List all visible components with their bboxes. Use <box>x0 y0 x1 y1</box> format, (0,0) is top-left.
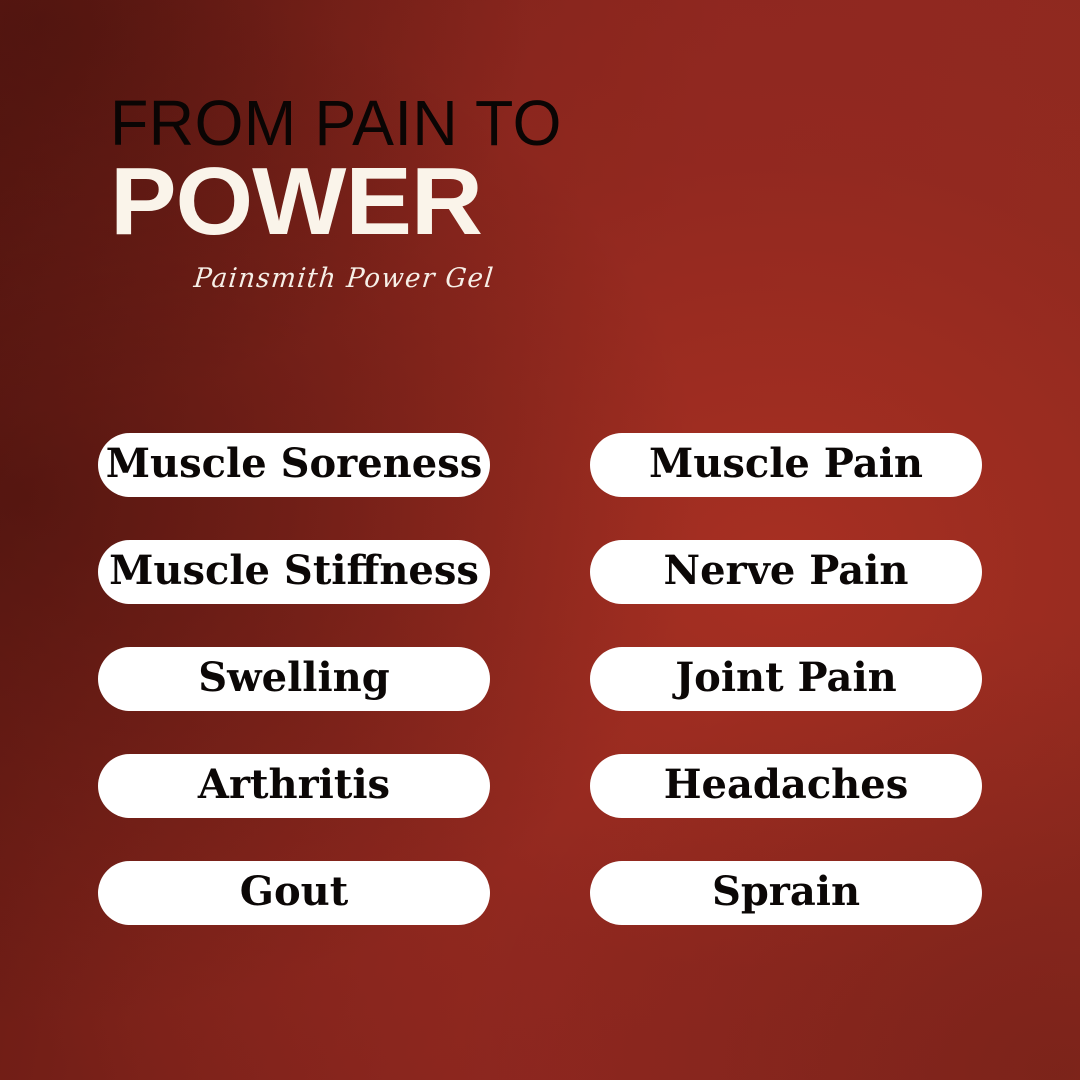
pill-arthritis[interactable]: Arthritis <box>98 754 490 818</box>
pill-muscle-stiffness[interactable]: Muscle Stiffness <box>98 540 490 604</box>
symptom-pill-grid: Muscle Soreness Muscle Pain Muscle Stiff… <box>98 433 982 925</box>
pill-label: Muscle Pain <box>649 442 923 486</box>
pill-sprain[interactable]: Sprain <box>590 861 982 925</box>
poster-header: FROM PAIN TO POWER Painsmith Power Gel <box>110 92 890 296</box>
pill-nerve-pain[interactable]: Nerve Pain <box>590 540 982 604</box>
pill-label: Muscle Soreness <box>106 442 482 486</box>
pill-muscle-pain[interactable]: Muscle Pain <box>590 433 982 497</box>
pill-label: Joint Pain <box>675 656 896 700</box>
pill-label: Gout <box>240 870 348 914</box>
pill-gout[interactable]: Gout <box>98 861 490 925</box>
pill-headaches[interactable]: Headaches <box>590 754 982 818</box>
headline-main: POWER <box>110 156 921 248</box>
pill-label: Sprain <box>712 870 860 914</box>
headline-top: FROM PAIN TO <box>110 92 874 154</box>
pill-joint-pain[interactable]: Joint Pain <box>590 647 982 711</box>
pill-swelling[interactable]: Swelling <box>98 647 490 711</box>
pill-label: Muscle Stiffness <box>109 549 479 593</box>
pill-muscle-soreness[interactable]: Muscle Soreness <box>98 433 490 497</box>
pill-label: Headaches <box>664 763 908 807</box>
promo-poster: FROM PAIN TO POWER Painsmith Power Gel M… <box>0 0 1080 1080</box>
pill-label: Swelling <box>198 656 389 700</box>
pill-label: Nerve Pain <box>664 549 909 593</box>
product-tagline: Painsmith Power Gel <box>192 262 864 296</box>
pill-label: Arthritis <box>198 763 390 807</box>
